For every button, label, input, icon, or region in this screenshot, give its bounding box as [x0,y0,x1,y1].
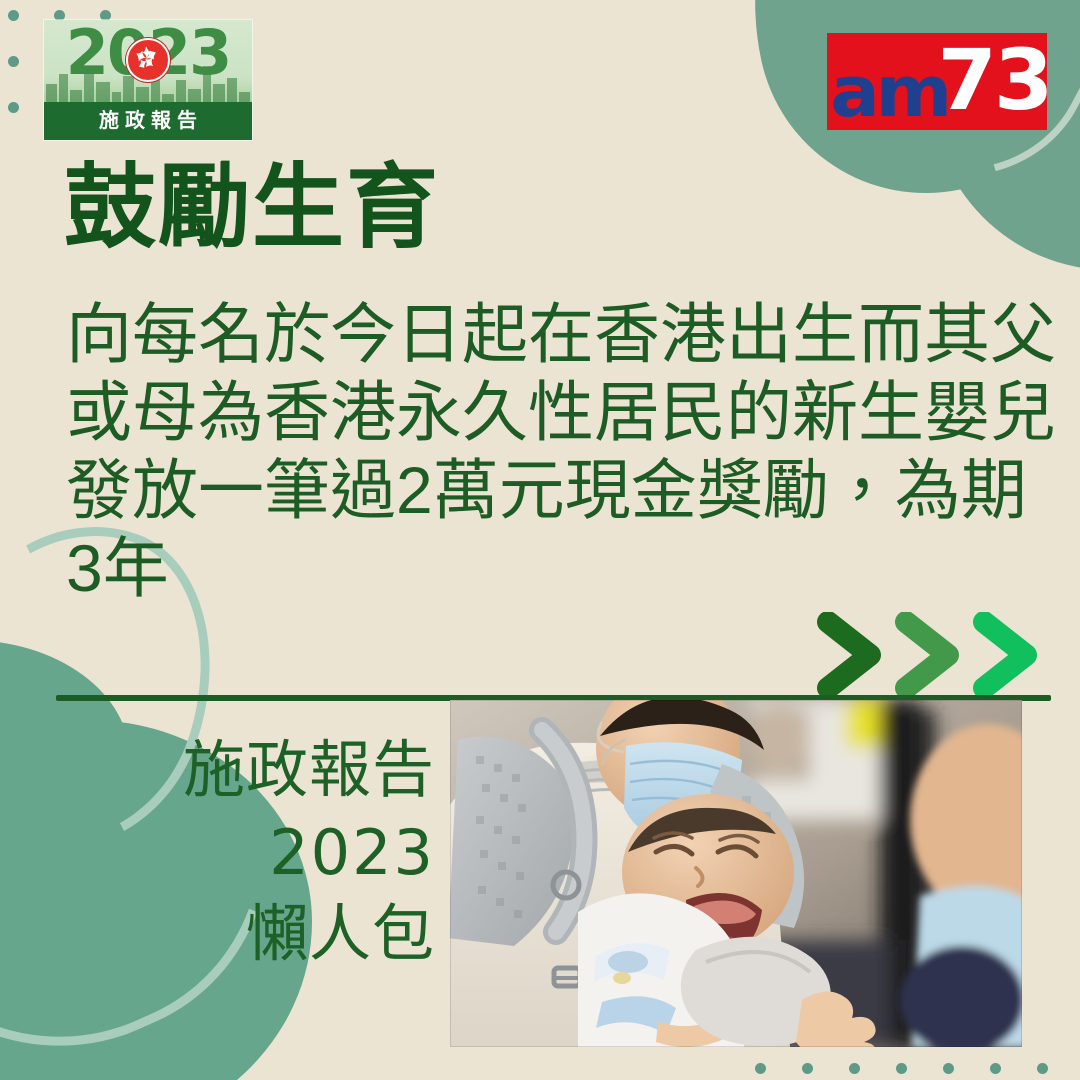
page-title: 鼓勵生育 [64,160,440,257]
body-copy: 向每名於今日起在香港出生而其父或母為香港永久性居民的新生嬰兒發放一筆過2萬元現金… [66,296,1006,608]
decorative-dot [8,102,19,113]
decorative-dot [802,1063,813,1074]
bottom-left-teal-blob-2 [0,640,130,910]
decorative-dot [849,1063,860,1074]
policy-address-2023-logo: 2023 施政報告 [44,20,252,140]
footer-caption-line-3: 懶人包 [150,894,435,976]
body-copy-line-4: 3年 [66,530,1006,608]
chevron-right-icon-1 [814,612,886,698]
footer-caption-line-1: 施政報告 [150,730,435,812]
decorative-dot [755,1063,766,1074]
policy-address-logo-band-label: 施政報告 [44,102,252,140]
am730-logo-suffix: 730 [938,43,1047,119]
decorative-dot [8,10,19,21]
body-copy-line-1: 向每名於今日起在香港出生而其父 [66,296,1006,374]
chevron-right-icon-3 [970,612,1042,698]
photo-illustration [450,700,1022,1047]
hong-kong-bauhinia-emblem-icon [126,38,170,82]
infographic-card: 2023 施政報告 am 730 鼓勵生育 向每名於今日起在香港出生而其父或母為… [0,0,1080,1080]
decorative-dot [990,1063,1001,1074]
chevron-right-icon-2 [892,612,964,698]
decorative-dot [943,1063,954,1074]
am730-logo: am 730 [827,33,1047,130]
am730-logo-prefix: am [830,64,948,121]
footer-caption-line-2: 2023 [150,812,435,894]
decorative-dot [896,1063,907,1074]
decorative-dot [8,56,19,67]
footer-caption: 施政報告2023懶人包 [150,730,435,975]
decorative-dot [1037,1063,1048,1074]
body-copy-line-2: 或母為香港永久性居民的新生嬰兒 [66,374,1006,452]
body-copy-line-3: 發放一筆過2萬元現金獎勵，為期 [66,452,1006,530]
mother-holding-crying-baby-photo [450,700,1022,1047]
chevron-arrow-group [814,612,1042,698]
